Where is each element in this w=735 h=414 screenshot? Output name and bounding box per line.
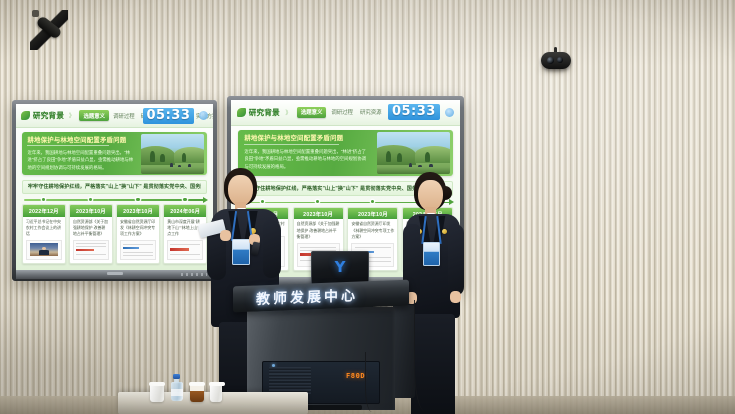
slide-left-navbar: 研究背景 》 选题意义 调研过程 研究资源 成果分析 实施方案 05:33 — [16, 104, 213, 128]
presenter-right-lapel-pin-right-icon — [442, 229, 447, 234]
timeline-card[interactable]: 2022年12月 习近平总书记在中央农村工作会议上的讲话 — [22, 204, 66, 264]
slide-left-hero-title: 耕地保护与林地空间配置矛盾问题 — [27, 135, 126, 144]
slide-right-tab-1[interactable]: 调研过程 — [329, 107, 355, 117]
bottle-label — [171, 389, 183, 396]
slide-right-tabs: 选题意义 调研过程 研究资源 成果分析 实施方案 — [297, 107, 383, 118]
slide-right-tab-0[interactable]: 选题意义 — [297, 107, 327, 118]
podium-cable — [365, 352, 382, 412]
slide-left-timeline-cards: 2022年12月 习近平总书记在中央农村工作会议上的讲话 2023年10月 自然… — [22, 204, 207, 264]
podium-led-readout: F80D — [346, 372, 365, 380]
timeline-card-thumb — [73, 240, 109, 260]
timeline-card[interactable]: 2023年10月 安徽省自然资源厅印发《林耕空间冲突专项工作方案》 — [116, 204, 160, 264]
timeline-card-text: 自然资源部《关于加强耕地保护 改善耕地占补平衡管理》 — [294, 219, 343, 241]
timeline-card-date: 2023年10月 — [294, 208, 343, 219]
timeline-card-text: 习近平总书记在中央农村工作会议上的讲话 — [23, 217, 65, 239]
presenter-right-arm-right — [448, 224, 464, 296]
slide-right-logo-text: 研究背景 — [249, 107, 280, 118]
slide-left-hero-body: 近年来，我国耕地与林地空间配置重叠问题突出，"林进"挤占了良田"争地"矛盾日益凸… — [27, 149, 134, 172]
display-left-chin — [16, 270, 213, 279]
slide-right-hero-title: 耕地保护与林地空间配置矛盾问题 — [244, 133, 343, 142]
slide-left-tab-1[interactable]: 调研过程 — [111, 111, 137, 121]
podium-led-sign-text: 教师发展中心 — [256, 285, 358, 309]
slide-left-tab-0[interactable]: 选题意义 — [79, 110, 109, 121]
amber-cup[interactable] — [190, 384, 204, 402]
slide-right-nav-badge-icon — [445, 108, 454, 117]
display-left-screen[interactable]: 研究背景 》 选题意义 调研过程 研究资源 成果分析 实施方案 05:33 耕地… — [16, 104, 213, 270]
floor-cable — [414, 300, 443, 412]
slide-left-quote-text: 牢牢守住耕地保护红线，严格落实"山上"换"山下" 是贯彻落实党中央、国务院关于加… — [28, 183, 201, 190]
presenter-left-id-badge — [232, 239, 250, 265]
timeline-dot — [136, 198, 140, 202]
paper-cup-1[interactable] — [150, 384, 164, 402]
slide-left-tabs: 选题意义 调研过程 研究资源 成果分析 实施方案 — [79, 110, 137, 121]
microphone-boom-icon — [28, 8, 68, 52]
slide-left-hero: 耕地保护与林地空间配置矛盾问题 近年来，我国耕地与林地空间配置重叠问题突出，"林… — [22, 132, 207, 175]
presenter-left-hand-left — [220, 230, 231, 241]
water-bottle[interactable] — [170, 374, 183, 401]
slide-left-logo: 研究背景 — [21, 110, 64, 121]
timeline-card-text: 安徽省自然资源厅印发《林耕空间冲突专项工作方案》 — [348, 219, 397, 241]
timeline-card-text: 安徽省自然资源厅印发《林耕空间冲突专项工作方案》 — [117, 217, 159, 239]
slide-left-quote: 牢牢守住耕地保护红线，严格落实"山上"换"山下" 是贯彻落实党中央、国务院关于加… — [22, 180, 207, 195]
leaf-icon — [237, 108, 246, 117]
presenter-right-hand-right — [450, 291, 461, 303]
timeline-card-thumb — [120, 240, 156, 260]
timeline-card-date: 2023年10月 — [70, 205, 112, 216]
timeline-card-thumb — [26, 240, 62, 260]
slide-left-hero-illustration — [141, 134, 204, 174]
presenter-left-arm-right — [263, 220, 281, 278]
slide-right-navbar: 研究背景 》 选题意义 调研过程 研究资源 成果分析 实施方案 05:33 — [231, 100, 460, 126]
timeline-card-text: 自然资源部《关于加强耕地保护 改善耕地占补平衡管理》 — [70, 217, 112, 239]
timeline-card-thumb — [167, 240, 203, 260]
speaker-grille-icon — [269, 367, 311, 393]
presenter-right-id-badge — [423, 242, 440, 266]
paper-cup-2[interactable] — [210, 384, 222, 402]
slide-left-timeline-axis — [24, 199, 205, 201]
leaf-icon — [21, 111, 30, 120]
timeline-card-date: 2024年06月 — [164, 205, 206, 216]
slide-right-hero-underline — [244, 144, 339, 145]
slide-left-nav-separator: 》 — [69, 111, 75, 120]
timeline-card-date: 2023年10月 — [348, 208, 397, 219]
timeline-card-date: 2022年12月 — [23, 205, 65, 216]
countdown-timer-right: 05:33 — [388, 104, 440, 120]
slide-left-logo-text: 研究背景 — [33, 110, 64, 121]
timeline-card[interactable]: 2023年10月 自然资源部《关于加强耕地保护 改善耕地占补平衡管理》 — [69, 204, 113, 264]
timeline-card-date: 2023年10月 — [117, 205, 159, 216]
laptop-brand-logo-icon: Y — [335, 258, 346, 276]
slide-right-logo: 研究背景 — [237, 107, 280, 118]
slide-right-tab-2[interactable]: 研究资源 — [358, 107, 384, 117]
wall-camera-icon — [541, 52, 571, 69]
slide-left: 研究背景 》 选题意义 调研过程 研究资源 成果分析 实施方案 05:33 耕地… — [16, 104, 213, 270]
slide-right-nav-separator: 》 — [285, 108, 291, 117]
slide-left-hero-underline — [27, 145, 108, 146]
countdown-timer-left: 05:33 — [143, 108, 195, 124]
podium-side-panel — [393, 305, 415, 398]
presentation-room-photo: 研究背景 》 选题意义 调研过程 研究资源 成果分析 实施方案 05:33 耕地… — [0, 0, 735, 414]
podium-led-sign: 教师发展中心 — [245, 287, 369, 307]
slide-right-hero-illustration — [377, 132, 450, 174]
display-left[interactable]: 研究背景 》 选题意义 调研过程 研究资源 成果分析 实施方案 05:33 耕地… — [12, 100, 217, 281]
